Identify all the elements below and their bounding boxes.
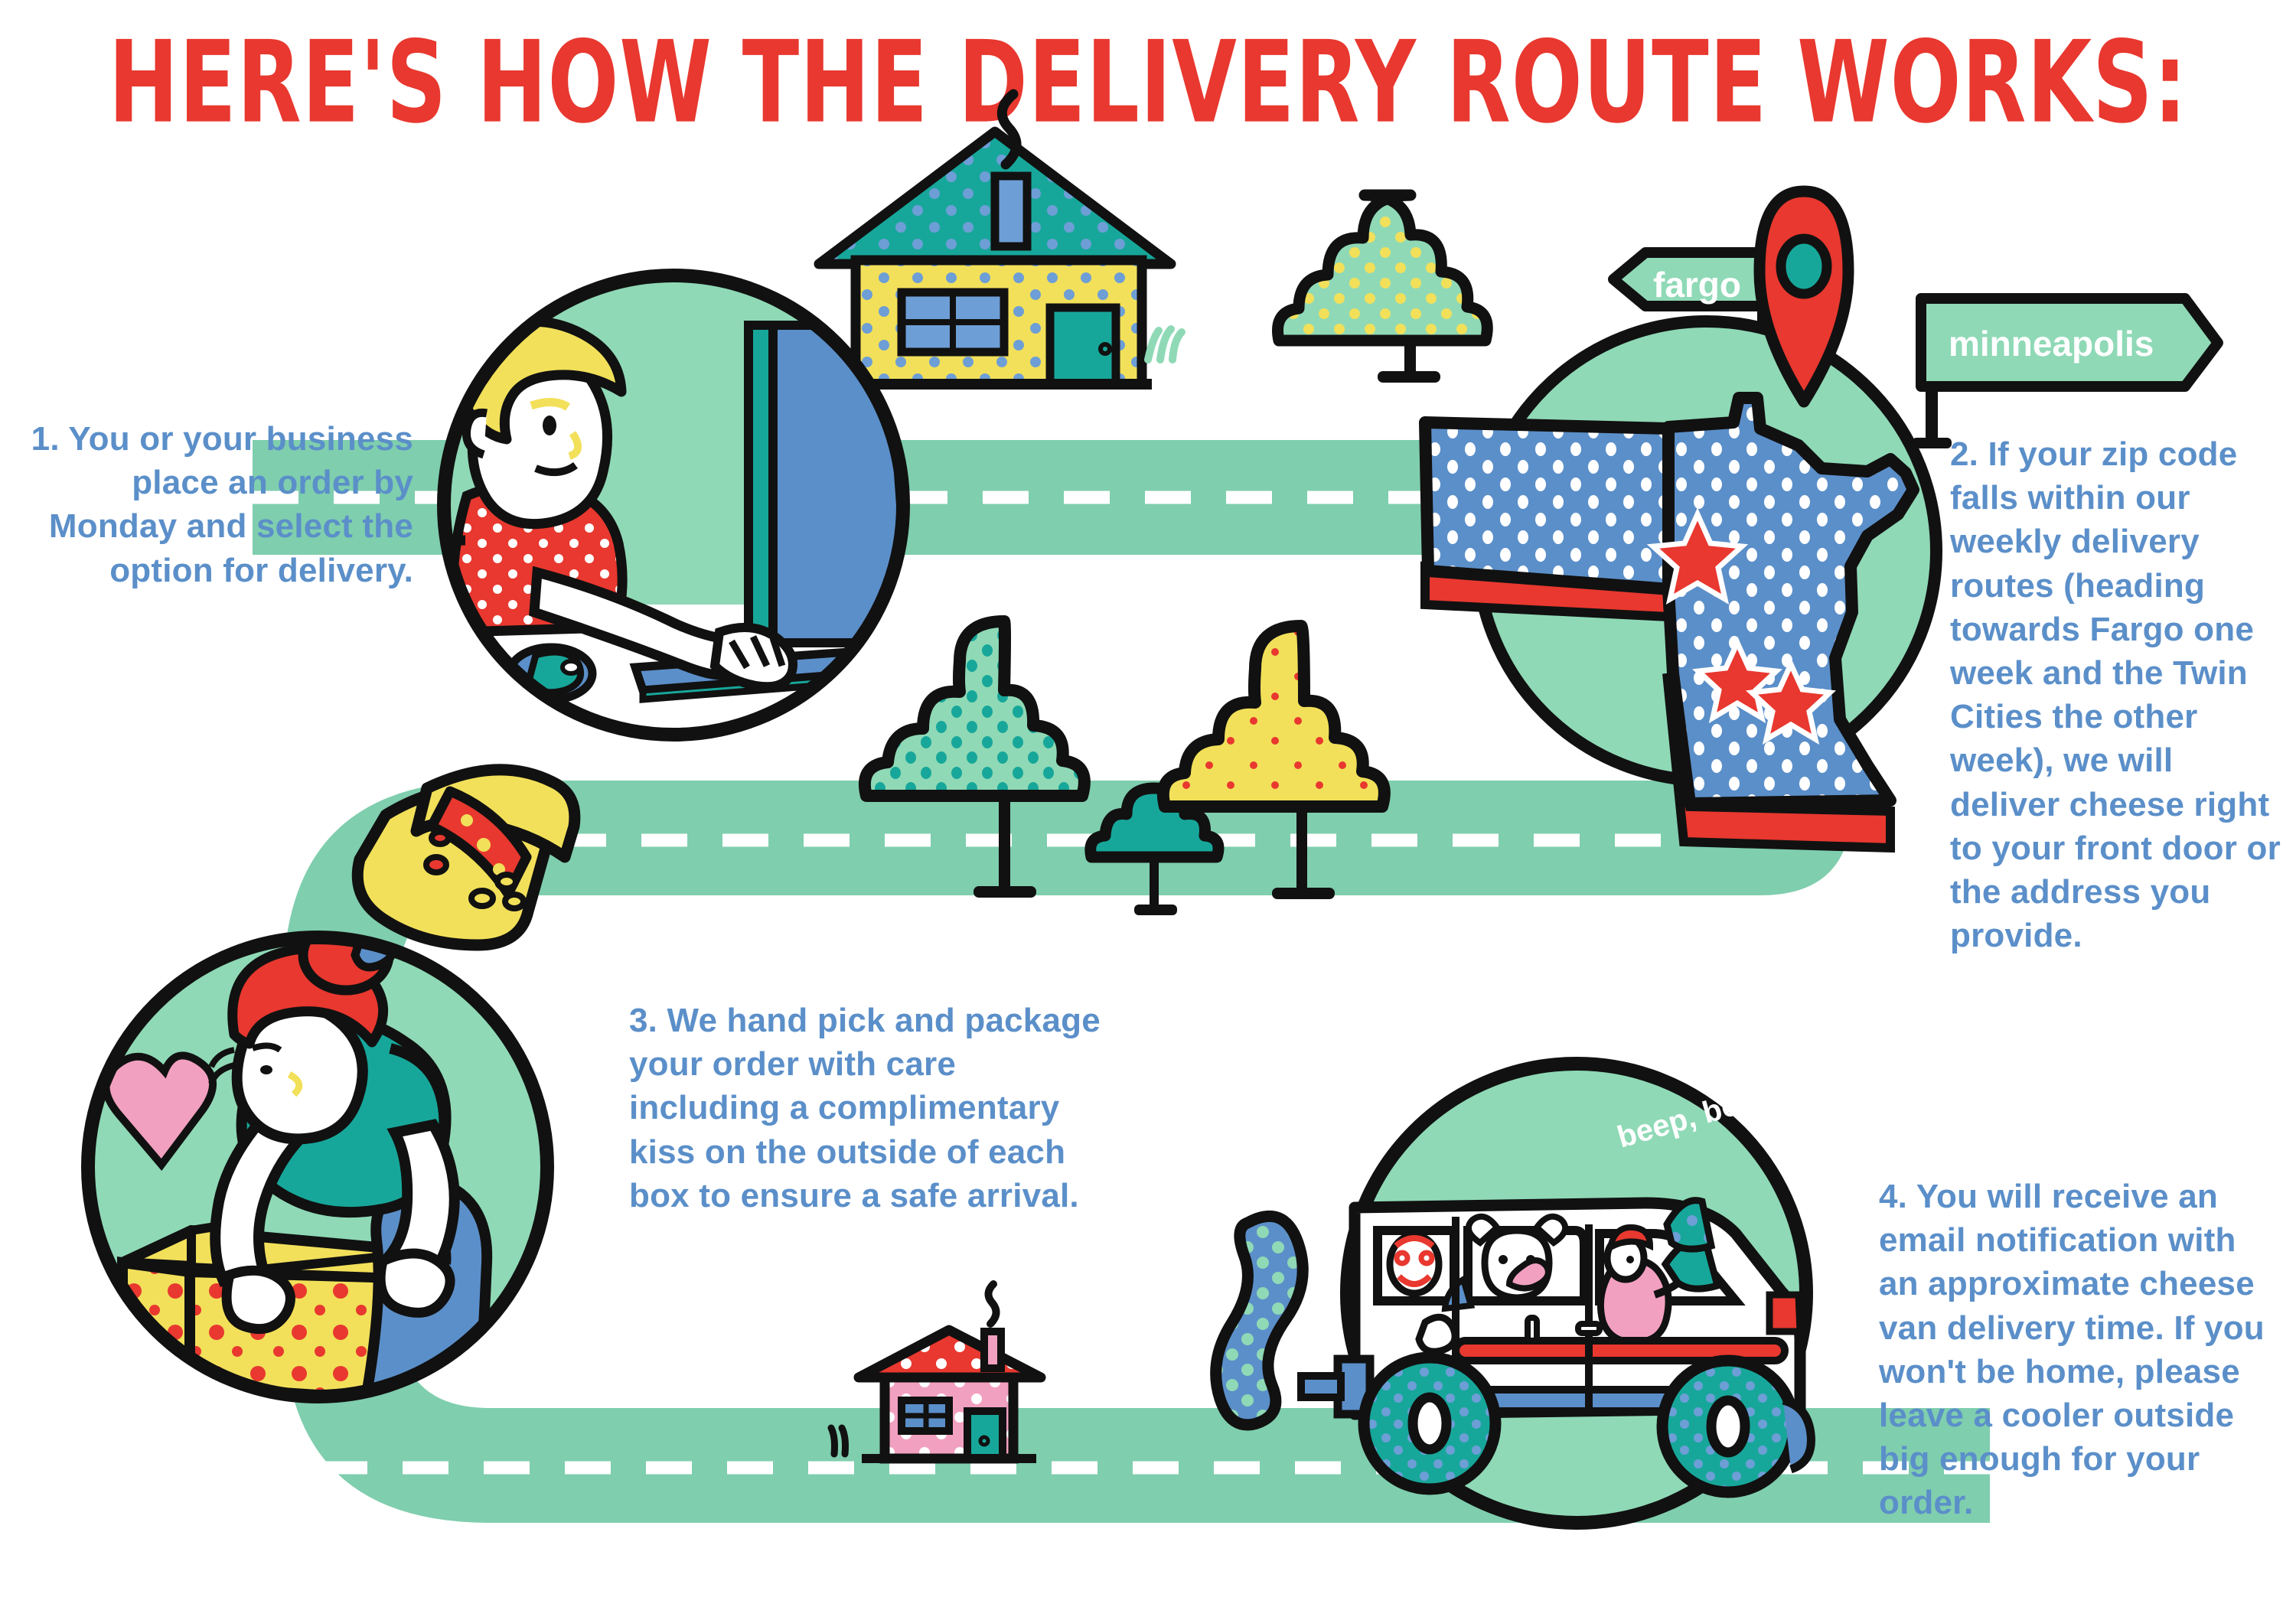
infographic-canvas: HERE'S HOW THE DELIVERY ROUTE WORKS: xyxy=(0,0,2296,1607)
circle-scene-packing xyxy=(88,894,547,1416)
cheese-wheel xyxy=(357,770,575,945)
step-4-text: 4. You will receive an email notificatio… xyxy=(1879,1175,2277,1525)
exhaust-smoke xyxy=(1216,1216,1303,1425)
yellow-house xyxy=(819,94,1182,390)
signpost-fargo-label: fargo xyxy=(1653,265,1741,305)
chimney xyxy=(995,176,1027,246)
chimney-smoke xyxy=(988,1284,996,1324)
signpost-minneapolis[interactable]: minneapolis xyxy=(1912,295,2218,448)
van-wheel-rear xyxy=(1364,1358,1495,1489)
van-wheel-front xyxy=(1662,1361,1794,1492)
chimney xyxy=(984,1332,1001,1368)
mint-tree-yellow-dots xyxy=(1277,195,1487,383)
step-2-text: 2. If your zip code falls within our wee… xyxy=(1950,432,2287,957)
signpost-minneapolis-label: minneapolis xyxy=(1949,324,2154,363)
clown-face-decal xyxy=(1390,1235,1439,1293)
step-3-text: 3. We hand pick and package your order w… xyxy=(629,999,1104,1217)
step-1-text: 1. You or your business place an order b… xyxy=(15,417,413,592)
